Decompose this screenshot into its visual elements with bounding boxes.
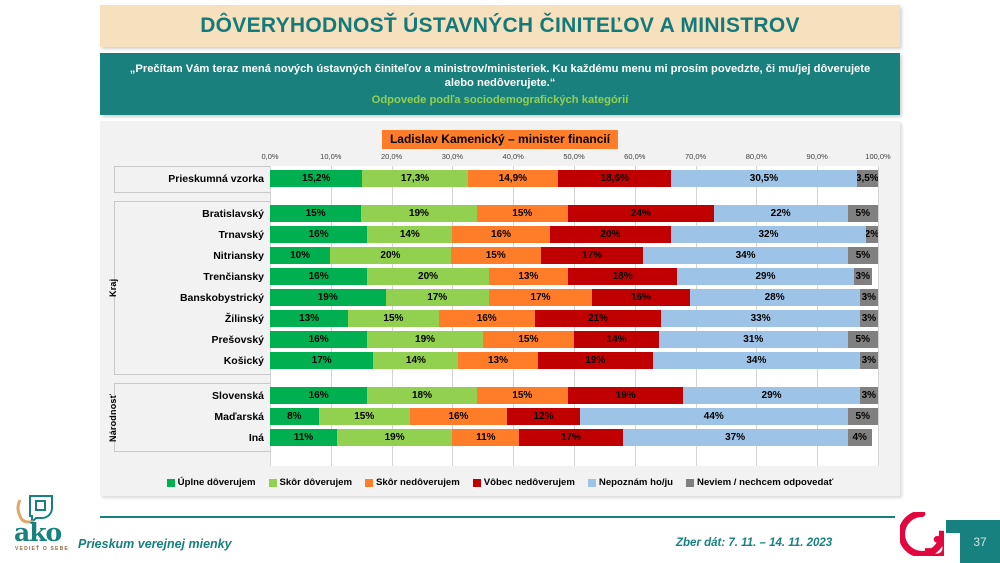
bar-segment: 13% <box>489 268 568 285</box>
table-row: 8%15%16%12%44%5% <box>270 408 878 425</box>
bar-segment: 16% <box>410 408 507 425</box>
question-subtitle: Odpovede podľa sociodemografických kateg… <box>372 94 629 106</box>
legend-swatch <box>473 479 481 487</box>
table-row: 19%17%17%16%28%3% <box>270 289 878 306</box>
x-tick-label: 60,0% <box>624 152 645 161</box>
legend-label: Neviem / nechcem odpovedať <box>697 477 833 488</box>
bar-segment: 18% <box>367 387 476 404</box>
bar-segment: 16% <box>270 268 367 285</box>
legend-label: Vôbec nedôverujem <box>484 477 575 488</box>
spiral-logo-icon <box>900 512 944 556</box>
chart-legend: Úplne dôverujemSkôr dôverujemSkôr nedôve… <box>100 477 900 488</box>
legend-item[interactable]: Úplne dôverujem <box>167 477 256 488</box>
category-group-box <box>114 166 270 193</box>
x-tick-label: 50,0% <box>563 152 584 161</box>
bar-segment: 3% <box>860 289 878 306</box>
bar-segment: 15% <box>348 310 438 327</box>
bar-segment: 4% <box>848 429 872 446</box>
bar-segment: 5% <box>848 331 878 348</box>
bar-segment: 5% <box>848 205 878 222</box>
question-band: „Prečítam Vám teraz mená nových ústavnýc… <box>100 53 900 115</box>
question-text: „Prečítam Vám teraz mená nových ústavnýc… <box>122 62 878 90</box>
legend-item[interactable]: Vôbec nedôverujem <box>473 477 575 488</box>
x-axis-tick-labels: 0,0%10,0%20,0%30,0%40,0%50,0%60,0%70,0%8… <box>270 152 878 165</box>
logo-tagline: VEDIEŤ O SEBE <box>15 546 69 552</box>
legend-swatch <box>269 479 277 487</box>
bar-segment: 14% <box>367 226 452 243</box>
legend-item[interactable]: Skôr dôverujem <box>269 477 353 488</box>
table-row: 10%20%15%17%34%5% <box>270 247 878 264</box>
table-row: 15%19%15%24%22%5% <box>270 205 878 222</box>
bar-segment: 15% <box>483 331 574 348</box>
x-tick-label: 20,0% <box>381 152 402 161</box>
bar-segment: 17,3% <box>362 170 467 187</box>
group-axis-label: Kraj <box>108 201 118 375</box>
bar-segment: 18% <box>568 268 677 285</box>
bar-segment: 14% <box>574 331 659 348</box>
ako-logo: ako VEDIEŤ O SEBE <box>12 494 88 558</box>
bar-segment: 21% <box>535 310 661 327</box>
bar-segment: 33% <box>661 310 860 327</box>
bar-segment: 15% <box>477 387 568 404</box>
bar-segment: 10% <box>270 247 330 264</box>
grid-line <box>878 166 879 466</box>
footer-divider <box>100 516 895 518</box>
bar-segment: 19% <box>337 429 453 446</box>
legend-swatch <box>588 479 596 487</box>
bar-segment: 17% <box>386 289 489 306</box>
bar-segment: 34% <box>653 352 860 369</box>
bar-segment: 15% <box>270 205 361 222</box>
table-row: 16%18%15%19%29%3% <box>270 387 878 404</box>
x-tick-label: 10,0% <box>320 152 341 161</box>
bar-segment: 16% <box>592 289 689 306</box>
legend-item[interactable]: Nepoznám ho/ju <box>588 477 673 488</box>
bar-segment: 12% <box>507 408 580 425</box>
category-group-box <box>114 201 270 375</box>
legend-item[interactable]: Neviem / nechcem odpovedať <box>686 477 833 488</box>
bar-segment: 16% <box>452 226 549 243</box>
bar-segment: 16% <box>439 310 535 327</box>
bar-segment: 3% <box>854 268 872 285</box>
bar-segment: 16% <box>270 387 367 404</box>
legend-label: Skôr dôverujem <box>280 477 353 488</box>
bar-segment: 16% <box>270 331 367 348</box>
chart-panel: Ladislav Kamenický – minister financií 0… <box>100 121 900 496</box>
bar-segment: 15% <box>319 408 410 425</box>
bar-segment: 29% <box>683 387 859 404</box>
bar-segment: 13% <box>270 310 348 327</box>
x-tick-label: 30,0% <box>442 152 463 161</box>
bar-segment: 37% <box>623 429 848 446</box>
x-tick-label: 70,0% <box>685 152 706 161</box>
page-title: DÔVERYHODNOSŤ ÚSTAVNÝCH ČINITEĽOV A MINI… <box>200 14 800 38</box>
bar-segment: 19% <box>270 289 386 306</box>
legend-label: Úplne dôverujem <box>178 477 256 488</box>
bar-segment: 14,9% <box>468 170 559 187</box>
legend-item[interactable]: Skôr nedôverujem <box>365 477 460 488</box>
bar-segment: 17% <box>541 247 643 264</box>
bar-segment: 5% <box>848 408 878 425</box>
footer-note: Prieskum verejnej mienky <box>78 537 232 551</box>
group-axis-label: Národnosť <box>108 383 118 452</box>
bar-segment: 14% <box>373 352 458 369</box>
legend-label: Skôr nedôverujem <box>376 477 460 488</box>
bar-segment: 31% <box>659 331 847 348</box>
table-row: 11%19%11%17%37%4% <box>270 429 878 446</box>
bar-segment: 17% <box>489 289 592 306</box>
bar-segment: 44% <box>580 408 848 425</box>
legend-swatch <box>686 479 694 487</box>
bar-segment: 29% <box>677 268 853 285</box>
table-row: 13%15%16%21%33%3% <box>270 310 878 327</box>
bar-segment: 22% <box>714 205 848 222</box>
bar-segment: 3% <box>860 352 878 369</box>
footer-date: Zber dát: 7. 11. – 14. 11. 2023 <box>676 537 832 549</box>
table-row: 15,2%17,3%14,9%18,6%30,5%3,5% <box>270 170 878 187</box>
category-labels-column: Prieskumná vzorkaBratislavskýTrnavskýNit… <box>100 166 270 466</box>
x-tick-label: 90,0% <box>807 152 828 161</box>
bar-segment: 28% <box>690 289 860 306</box>
bar-segment: 15% <box>477 205 568 222</box>
legend-swatch <box>365 479 373 487</box>
x-tick-label: 40,0% <box>503 152 524 161</box>
bar-segment: 20% <box>550 226 672 243</box>
x-tick-label: 0,0% <box>261 152 278 161</box>
bar-segment: 19% <box>361 205 477 222</box>
bar-segment: 11% <box>270 429 337 446</box>
bar-segment: 11% <box>452 429 519 446</box>
bar-segment: 19% <box>568 387 684 404</box>
page-number-badge: 37 <box>960 520 1000 563</box>
bar-segment: 19% <box>367 331 483 348</box>
page-number: 37 <box>973 535 986 549</box>
bar-segment: 16% <box>270 226 367 243</box>
bar-segment: 15% <box>451 247 541 264</box>
bar-segment: 17% <box>270 352 373 369</box>
category-group-box <box>114 383 270 452</box>
legend-label: Nepoznám ho/ju <box>599 477 673 488</box>
bar-segment: 30,5% <box>671 170 856 187</box>
bar-segment: 18,6% <box>558 170 671 187</box>
stacked-bar-plot: 15,2%17,3%14,9%18,6%30,5%3,5%15%19%15%24… <box>270 166 878 466</box>
legend-swatch <box>167 479 175 487</box>
table-row: 17%14%13%19%34%3% <box>270 352 878 369</box>
table-row: 16%20%13%18%29%3% <box>270 268 878 285</box>
bar-segment: 20% <box>330 247 450 264</box>
bar-segment: 13% <box>458 352 537 369</box>
bar-segment: 20% <box>367 268 489 285</box>
slide-title-band: DÔVERYHODNOSŤ ÚSTAVNÝCH ČINITEĽOV A MINI… <box>100 5 900 47</box>
bar-segment: 3% <box>860 310 878 327</box>
bar-segment: 24% <box>568 205 714 222</box>
bar-segment: 15,2% <box>270 170 362 187</box>
x-tick-label: 80,0% <box>746 152 767 161</box>
table-row: 16%14%16%20%32%2% <box>270 226 878 243</box>
logo-wordmark: ako <box>14 518 61 547</box>
chart-title: Ladislav Kamenický – minister financií <box>382 130 618 149</box>
bar-segment: 8% <box>270 408 319 425</box>
bar-segment: 19% <box>538 352 654 369</box>
bar-segment: 17% <box>519 429 622 446</box>
bar-segment: 5% <box>848 247 878 264</box>
x-tick-label: 100,0% <box>865 152 890 161</box>
bar-segment: 3% <box>860 387 878 404</box>
bar-segment: 34% <box>643 247 848 264</box>
table-row: 16%19%15%14%31%5% <box>270 331 878 348</box>
bar-segment: 2% <box>866 226 878 243</box>
bar-segment: 32% <box>671 226 866 243</box>
bar-segment: 3,5% <box>857 170 878 187</box>
